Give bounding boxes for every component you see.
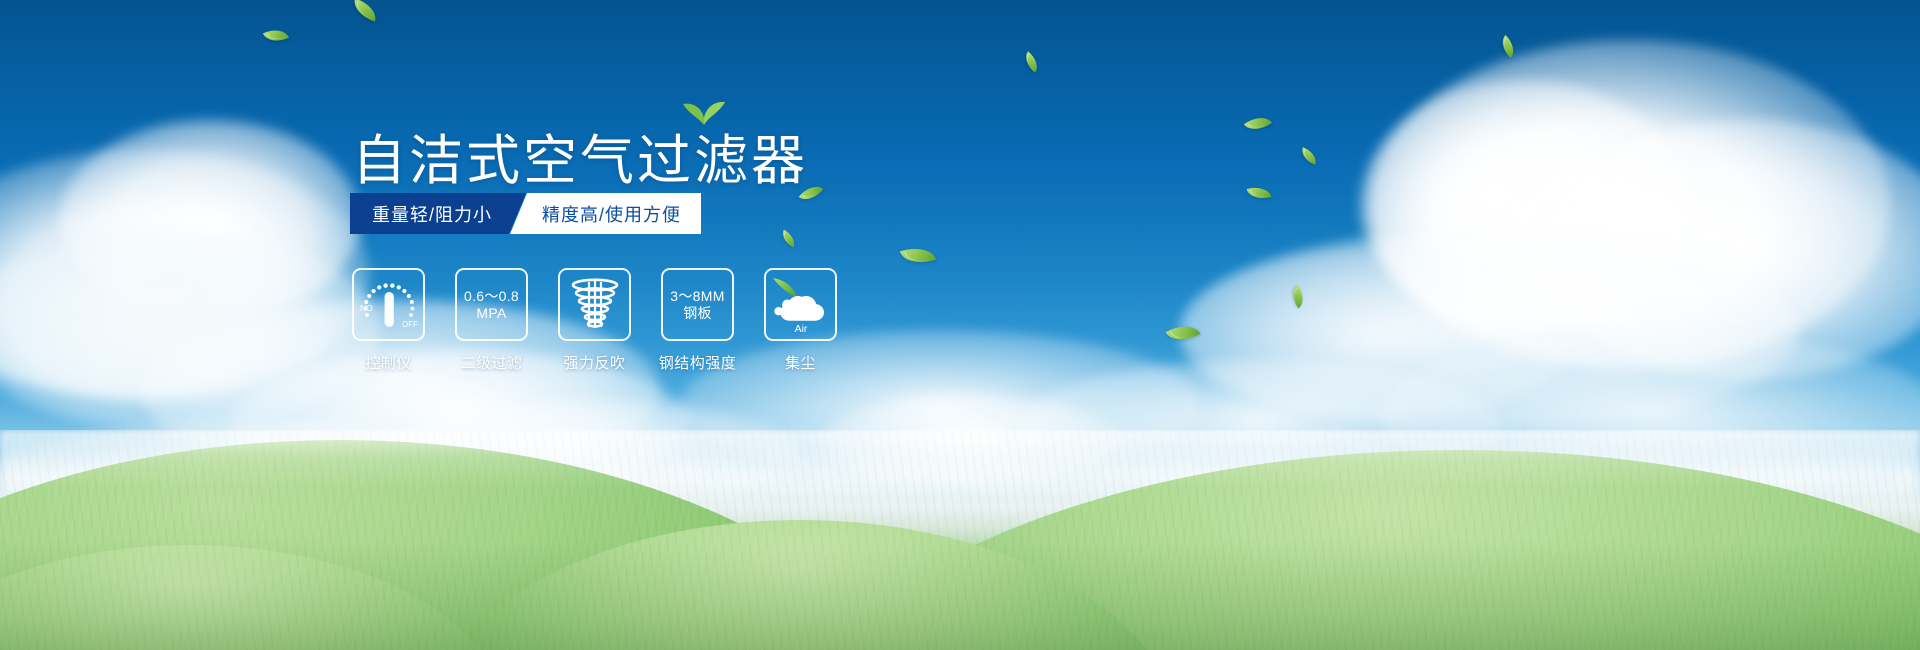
gauge-label-off: OFF: [402, 320, 418, 329]
pressure-range: 0.6～0.8: [464, 288, 519, 305]
steel-plate-text-icon: 3～8MM 钢板: [670, 288, 724, 322]
steel-thickness: 3～8MM: [670, 288, 724, 305]
tagline-right: 精度高/使用方便: [510, 193, 701, 234]
feature-icon-box: 3～8MM 钢板: [661, 268, 734, 341]
feature-item-dust-collection[interactable]: Air 集尘: [764, 268, 837, 373]
feature-icon-box: NO OFF: [352, 268, 425, 341]
feature-icon-box: [558, 268, 631, 341]
feature-label: 集尘: [785, 352, 816, 373]
feature-item-steel-strength[interactable]: 3～8MM 钢板 钢结构强度: [661, 268, 734, 373]
cloud-air-icon: Air: [770, 276, 832, 334]
product-hero-banner: 自洁式空气过滤器 重量轻/阻力小 精度高/使用方便: [0, 0, 1920, 650]
pressure-text-icon: 0.6～0.8 MPA: [464, 288, 519, 322]
feature-item-blowback[interactable]: 强力反吹: [558, 268, 631, 373]
tagline-left: 重量轻/阻力小: [350, 193, 526, 234]
page-title: 自洁式空气过滤器: [352, 116, 808, 195]
pressure-unit: MPA: [464, 305, 519, 322]
feature-label: 二级过滤: [460, 352, 522, 373]
feature-item-controller[interactable]: NO OFF 控制仪: [352, 268, 425, 373]
steel-material: 钢板: [670, 305, 724, 322]
feature-item-two-stage-filter[interactable]: 0.6～0.8 MPA 二级过滤: [455, 268, 528, 373]
feature-icon-row: NO OFF 控制仪 0.6～0.8 MPA 二级过滤: [352, 268, 837, 373]
banner-content: 自洁式空气过滤器 重量轻/阻力小 精度高/使用方便: [0, 0, 1920, 650]
coil-blowback-icon: [569, 278, 621, 332]
tagline-bar: 重量轻/阻力小 精度高/使用方便: [350, 193, 701, 234]
feature-label: 控制仪: [365, 352, 412, 373]
feature-label: 强力反吹: [563, 352, 625, 373]
feature-icon-box: Air: [764, 268, 837, 341]
cloud-air-caption: Air: [794, 323, 807, 334]
gauge-label-no: NO: [360, 303, 373, 313]
feature-label: 钢结构强度: [659, 352, 737, 373]
gauge-icon: NO OFF: [358, 279, 420, 331]
feature-icon-box: 0.6～0.8 MPA: [455, 268, 528, 341]
leaf-icon: [681, 92, 727, 126]
